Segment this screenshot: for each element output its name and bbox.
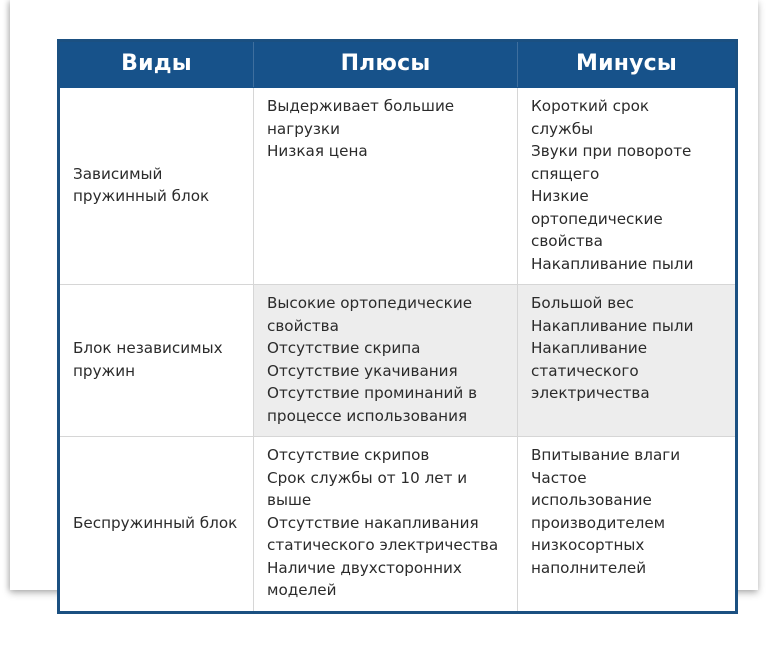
table-row: Беспружинный блокОтсутствие скриповСрок … [59, 437, 737, 613]
cell-lines: Большой весНакапливание пылиНакапливание… [531, 292, 724, 405]
table-body: Зависимыйпружинный блокВыдерживает больш… [59, 88, 737, 613]
cell-lines: Впитывание влагиЧастоеиспользованиепроиз… [531, 444, 724, 579]
cell-line: моделей [267, 579, 506, 602]
cell-cons: Впитывание влагиЧастоеиспользованиепроиз… [518, 437, 737, 613]
cell-line: процессе использования [267, 405, 506, 428]
cell-line: Впитывание влаги [531, 444, 724, 467]
cell-line: Короткий срок [531, 95, 724, 118]
cell-lines: Короткий срокслужбыЗвуки при поворотеспя… [531, 95, 724, 275]
cell-line: Выдерживает большие [267, 95, 506, 118]
cell-pros: Высокие ортопедическиесвойстваОтсутствие… [254, 285, 518, 437]
cell-line: статического [531, 360, 724, 383]
cell-line: выше [267, 489, 506, 512]
cell-line: Наличие двухсторонних [267, 557, 506, 580]
cell-line: Отсутствие укачивания [267, 360, 506, 383]
table-header-row: Виды Плюсы Минусы [59, 41, 737, 88]
table-row: Блок независимыхпружинВысокие ортопедиче… [59, 285, 737, 437]
cell-cons: Короткий срокслужбыЗвуки при поворотеспя… [518, 88, 737, 285]
column-header-pros: Плюсы [254, 41, 518, 88]
cell-line: Накапливание [531, 337, 724, 360]
cell-lines: Отсутствие скриповСрок службы от 10 лет … [267, 444, 506, 602]
column-header-cons: Минусы [518, 41, 737, 88]
cell-line: Большой вес [531, 292, 724, 315]
cell-line: Срок службы от 10 лет и [267, 467, 506, 490]
cell-line: спящего [531, 163, 724, 186]
cell-line: статического электричества [267, 534, 506, 557]
cell-line: свойства [531, 230, 724, 253]
cell-line: Частое [531, 467, 724, 490]
cell-line: Накапливание пыли [531, 253, 724, 276]
cell-kind: Зависимыйпружинный блок [59, 88, 254, 285]
cell-line: пружин [73, 360, 245, 383]
cell-lines: Блок независимыхпружин [73, 337, 245, 382]
cell-line: низкосортных [531, 534, 724, 557]
cell-line: Отсутствие скрипа [267, 337, 506, 360]
cell-line: использование [531, 489, 724, 512]
cell-line: Блок независимых [73, 337, 245, 360]
cell-lines: Беспружинный блок [73, 512, 245, 535]
table-header: Виды Плюсы Минусы [59, 41, 737, 88]
cell-pros: Отсутствие скриповСрок службы от 10 лет … [254, 437, 518, 613]
cell-pros: Выдерживает большиенагрузкиНизкая цена [254, 88, 518, 285]
cell-kind: Беспружинный блок [59, 437, 254, 613]
cell-line: Высокие ортопедические [267, 292, 506, 315]
cell-line: Отсутствие скрипов [267, 444, 506, 467]
cell-line: пружинный блок [73, 185, 245, 208]
cell-line: Низкие [531, 185, 724, 208]
cell-line: Отсутствие проминаний в [267, 382, 506, 405]
cell-line: свойства [267, 315, 506, 338]
mattress-comparison-table: Виды Плюсы Минусы Зависимыйпружинный бло… [57, 39, 738, 614]
cell-lines: Зависимыйпружинный блок [73, 163, 245, 208]
cell-line: Низкая цена [267, 140, 506, 163]
cell-line: Отсутствие накапливания [267, 512, 506, 535]
cell-kind: Блок независимыхпружин [59, 285, 254, 437]
cell-lines: Выдерживает большиенагрузкиНизкая цена [267, 95, 506, 163]
cell-lines: Высокие ортопедическиесвойстваОтсутствие… [267, 292, 506, 427]
cell-line: службы [531, 118, 724, 141]
cell-cons: Большой весНакапливание пылиНакапливание… [518, 285, 737, 437]
cell-line: нагрузки [267, 118, 506, 141]
page-sheet: Виды Плюсы Минусы Зависимыйпружинный бло… [10, 0, 758, 590]
column-header-kind: Виды [59, 41, 254, 88]
cell-line: Накапливание пыли [531, 315, 724, 338]
cell-line: ортопедические [531, 208, 724, 231]
table-row: Зависимыйпружинный блокВыдерживает больш… [59, 88, 737, 285]
cell-line: Звуки при повороте [531, 140, 724, 163]
cell-line: наполнителей [531, 557, 724, 580]
cell-line: электричества [531, 382, 724, 405]
cell-line: Зависимый [73, 163, 245, 186]
cell-line: Беспружинный блок [73, 512, 245, 535]
cell-line: производителем [531, 512, 724, 535]
